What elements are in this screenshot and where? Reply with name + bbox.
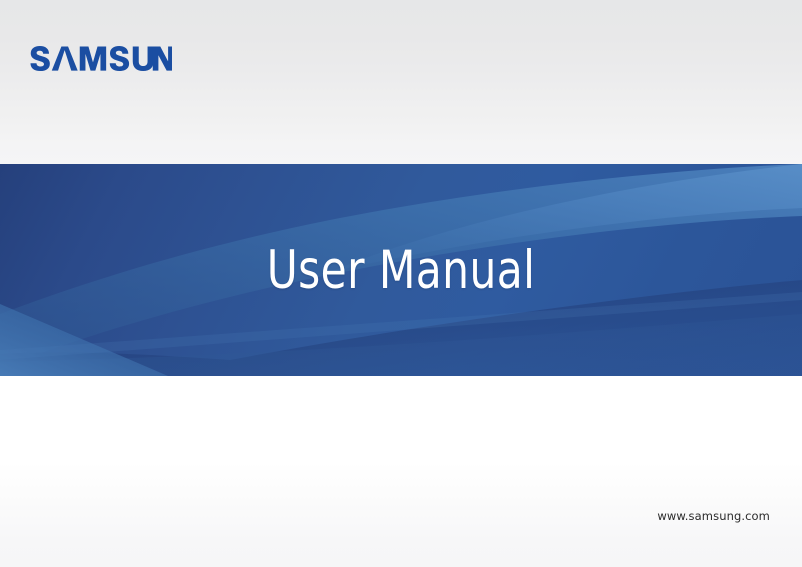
manual-cover-page: User Manual www.samsung.com: [0, 0, 802, 567]
header-band: [0, 0, 802, 164]
samsung-wordmark-icon: [29, 41, 172, 73]
footer-band: [0, 376, 802, 567]
samsung-logo: [29, 41, 172, 73]
page-title: User Manual: [80, 164, 722, 376]
hero-band: User Manual: [0, 164, 802, 376]
samsung-website-url[interactable]: www.samsung.com: [657, 509, 770, 523]
